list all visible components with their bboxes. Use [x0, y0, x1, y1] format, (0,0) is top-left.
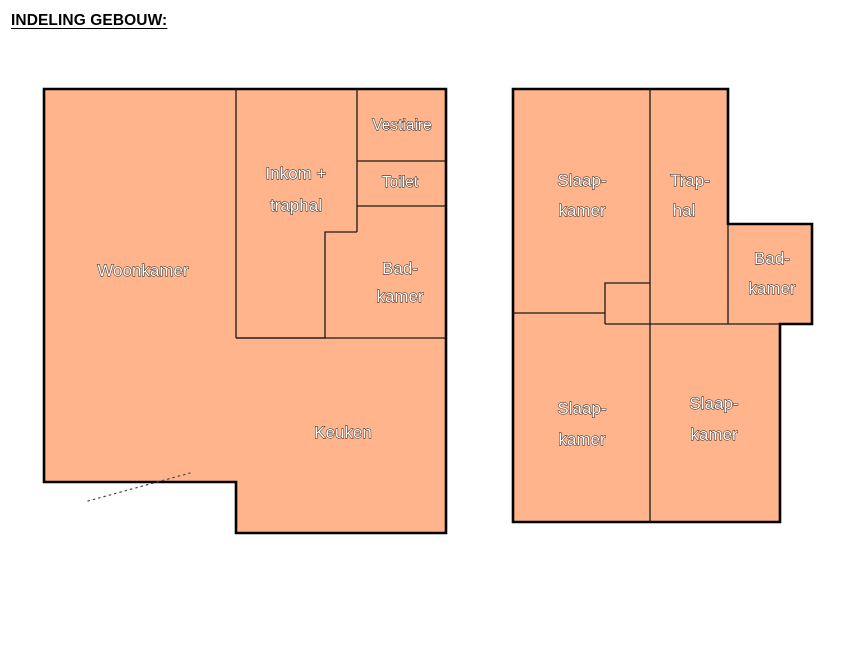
room-label-inkom-traphal-line2: traphal: [270, 196, 322, 215]
room-label-slaapkamer-2-line2: kamer: [558, 430, 606, 449]
room-label-slaapkamer-1: Slaap-: [557, 171, 606, 190]
room-label-woonkamer: Woonkamer: [97, 261, 189, 280]
floorplan-page: INDELING GEBOUW: Woonkamer Inkom + traph…: [0, 0, 852, 656]
room-label-badkamer: Bad-: [382, 259, 418, 278]
room-label-badkamer-2-line2: kamer: [748, 279, 796, 298]
room-label-slaapkamer-3-line2: kamer: [690, 425, 738, 444]
room-label-vestiaire: Vestiaire: [372, 117, 431, 134]
upper-floor-plan: Slaap- kamer Trap- hal Bad- kamer Slaap-…: [513, 89, 812, 522]
room-label-slaapkamer-2: Slaap-: [557, 399, 606, 418]
room-label-traphal: Trap-: [670, 171, 710, 190]
room-label-slaapkamer-3: Slaap-: [689, 394, 738, 413]
room-label-keuken: Keuken: [314, 423, 372, 442]
room-label-toilet: Toilet: [382, 174, 419, 191]
room-label-slaapkamer-1-line2: kamer: [558, 201, 606, 220]
room-label-badkamer-line2: kamer: [376, 287, 424, 306]
room-label-inkom-traphal: Inkom +: [266, 164, 327, 183]
room-label-badkamer-2: Bad-: [754, 249, 790, 268]
upper-floor-fill: [513, 89, 812, 522]
room-label-traphal-line2: hal: [673, 201, 696, 220]
ground-floor-plan: Woonkamer Inkom + traphal Vestiaire Toil…: [44, 89, 446, 533]
ground-floor-fill: [44, 89, 446, 533]
floorplan-drawing: Woonkamer Inkom + traphal Vestiaire Toil…: [0, 0, 852, 656]
